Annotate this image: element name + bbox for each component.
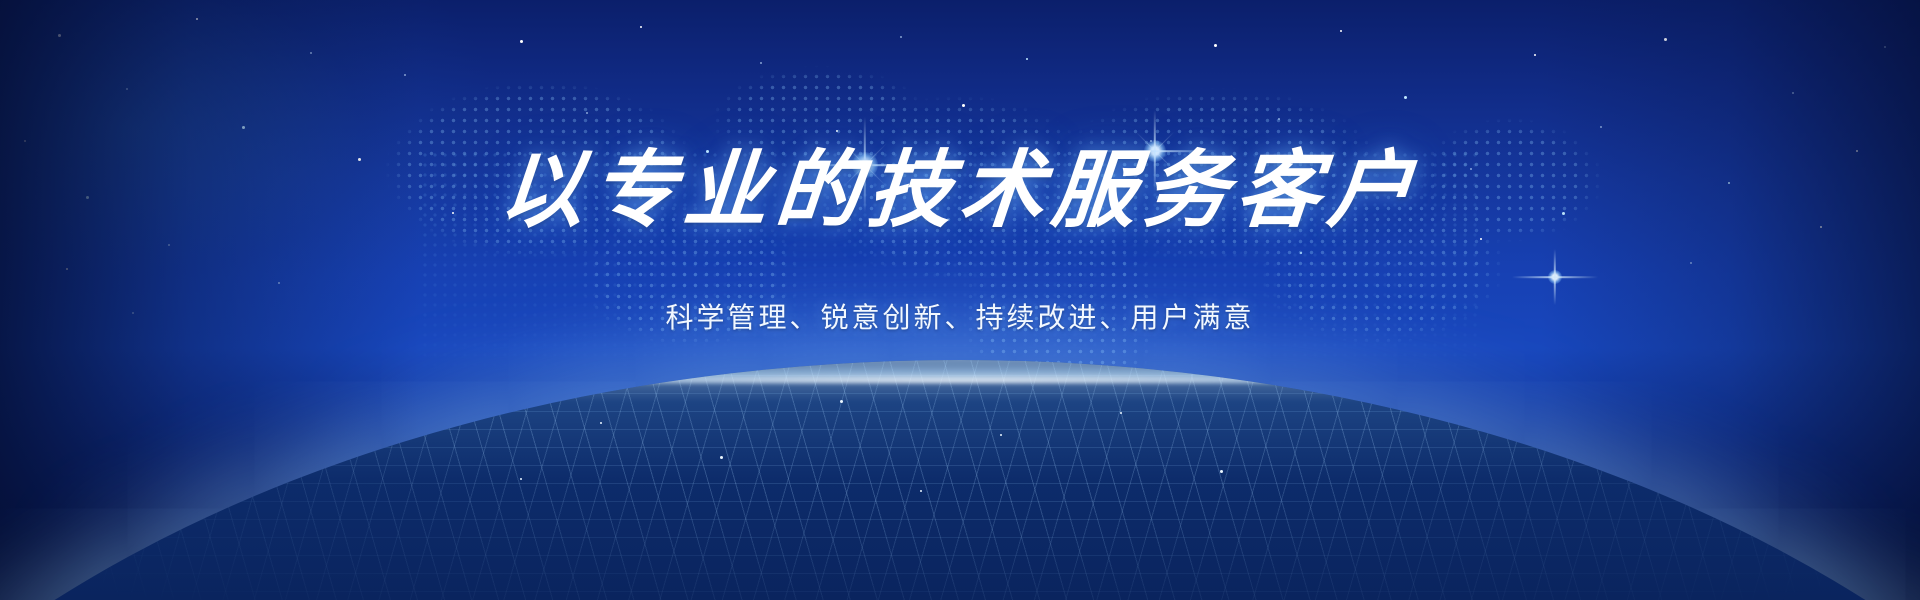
hero-banner: 以专业的技术服务客户 科学管理、锐意创新、持续改进、用户满意 [0,0,1920,600]
city-light-grid [0,360,1920,600]
horizon-rim-light [0,360,1920,383]
earth-horizon-graphic [0,360,1920,600]
banner-headline: 以专业的技术服务客户 [0,150,1920,234]
banner-subtitle: 科学管理、锐意创新、持续改进、用户满意 [0,296,1920,336]
